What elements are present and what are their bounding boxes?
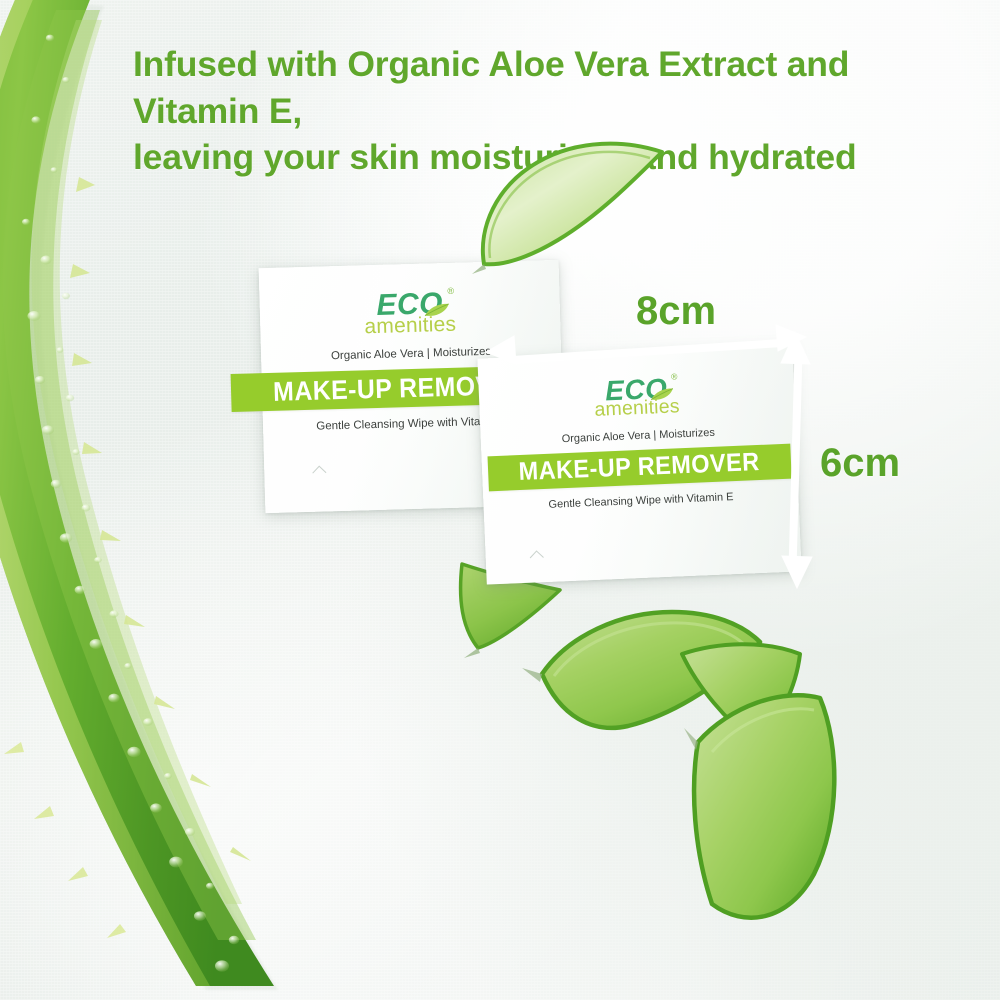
subline-front: Gentle Cleansing Wipe with Vitamin E xyxy=(548,491,733,511)
leaf-icon-front xyxy=(649,388,674,403)
sachet-front[interactable]: ECO ® amenities Organic Aloe Vera | Mois… xyxy=(477,346,801,585)
dimension-label-height: 6cm xyxy=(820,441,900,486)
brand-name-eco-back: ECO ® xyxy=(376,289,443,321)
product-marketing-image: ECO ® amenities Organic Aloe Vera | Mois… xyxy=(0,0,1000,1000)
aloe-slice-top xyxy=(466,136,676,276)
brand-logo-front: ECO ® amenities xyxy=(593,374,680,420)
tagline-front: Organic Aloe Vera | Moisturizes xyxy=(561,426,715,444)
product-banner-front: MAKE-UP REMOVER xyxy=(487,443,791,491)
aloe-slice-bottom-right xyxy=(664,636,854,926)
product-name-front: MAKE-UP REMOVER xyxy=(519,447,761,486)
headline-line-1: Infused with Organic Aloe Vera Extract a… xyxy=(133,44,849,131)
brand-logo-back: ECO ® amenities xyxy=(363,289,456,338)
registered-mark-back: ® xyxy=(447,287,454,296)
tagline-back: Organic Aloe Vera | Moisturizes xyxy=(331,346,492,362)
dimension-arrow-width xyxy=(480,324,810,380)
dimension-arrow-height xyxy=(768,330,824,590)
leaf-icon-back xyxy=(424,303,450,319)
